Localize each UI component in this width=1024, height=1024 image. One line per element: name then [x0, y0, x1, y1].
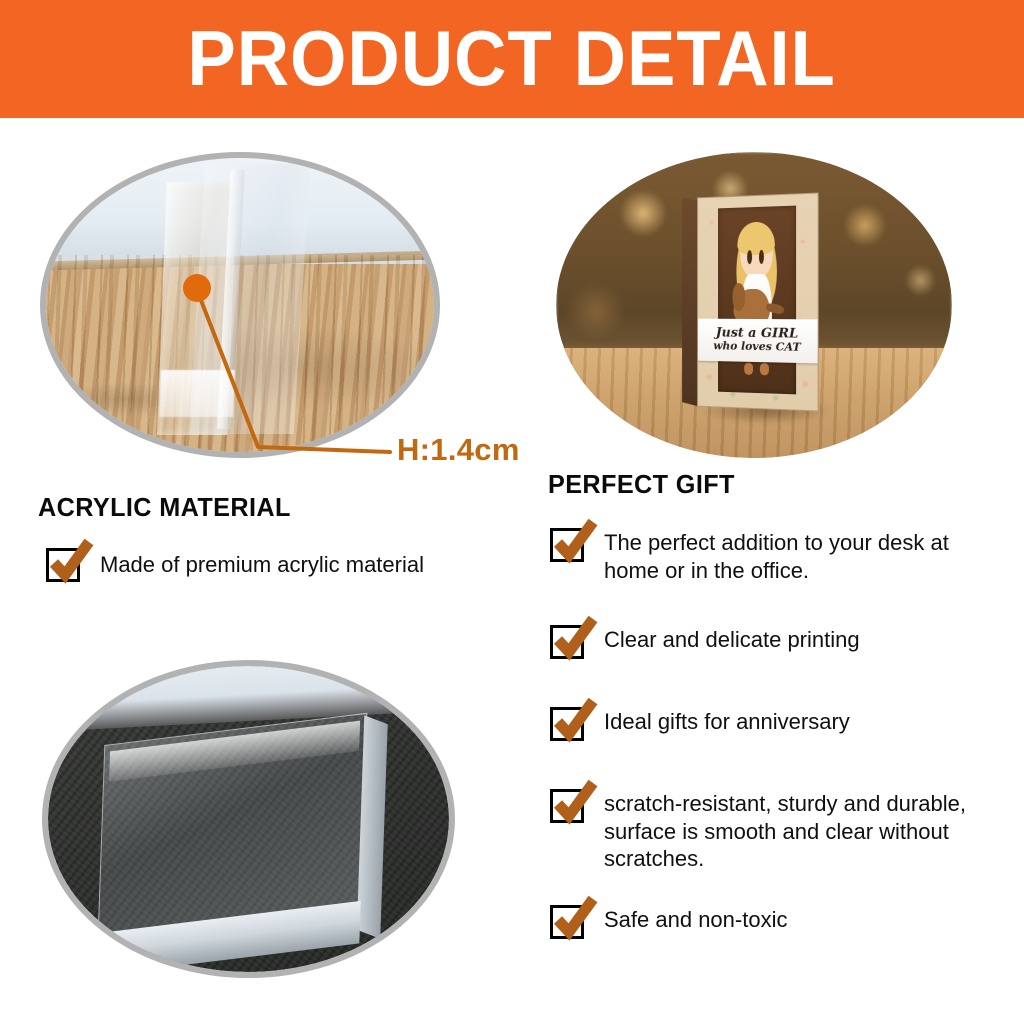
figurine-eye-left [747, 249, 752, 264]
checkbox-checked [550, 905, 584, 939]
acrylic-block-top-face [98, 713, 367, 937]
acrylic-slab-highlight [160, 370, 235, 417]
page-title: PRODUCT DETAIL [188, 19, 836, 97]
wood-table-scene [46, 158, 434, 452]
figurine-cat-head [732, 283, 745, 311]
check-icon [551, 895, 599, 943]
slate-background [48, 666, 449, 972]
dimension-label: H:1.4cm [397, 432, 520, 468]
section-heading-perfect-gift: PERFECT GIFT [548, 469, 735, 500]
header-banner: PRODUCT DETAIL [0, 0, 1024, 118]
figurine-hair-top [737, 221, 775, 256]
feature-text: scratch-resistant, sturdy and durable, s… [604, 790, 996, 873]
feature-item-gift-3: scratch-resistant, sturdy and durable, s… [550, 789, 996, 873]
acrylic-block-sheen [109, 720, 360, 781]
check-icon [551, 697, 599, 745]
checkbox-checked [550, 528, 584, 562]
acrylic-block [98, 713, 367, 937]
slate-top-strip [48, 666, 449, 733]
photo-acrylic-thickness [40, 152, 440, 458]
photo-gift-box: Just a GIRL who loves CAT [556, 152, 952, 458]
checkbox-checked [550, 625, 584, 659]
gift-box: Just a GIRL who loves CAT [697, 192, 818, 411]
feature-item-acrylic-0: Made of premium acrylic material [46, 548, 424, 582]
check-icon [551, 615, 599, 663]
check-icon [47, 538, 95, 586]
figurine-shoe-right [759, 363, 769, 374]
section-heading-acrylic-material: ACRYLIC MATERIAL [38, 492, 291, 523]
feature-text: The perfect addition to your desk at hom… [604, 529, 996, 584]
feature-text: Ideal gifts for anniversary [604, 708, 850, 736]
feature-text: Clear and delicate printing [604, 626, 860, 654]
feature-item-gift-0: The perfect addition to your desk at hom… [550, 528, 996, 584]
band-line-1: Just a GIRL [715, 326, 798, 340]
product-detail-page: PRODUCT DETAIL H:1.4cm [0, 0, 1024, 1024]
feature-text: Safe and non-toxic [604, 906, 787, 934]
checkbox-checked [550, 789, 584, 823]
check-icon [551, 779, 599, 827]
feature-item-gift-2: Ideal gifts for anniversary [550, 707, 850, 741]
photo-inner-block [48, 666, 449, 972]
photo-inner-thickness [46, 158, 434, 452]
dimension-marker-dot [183, 274, 211, 302]
gift-box-label-band: Just a GIRL who loves CAT [697, 318, 818, 363]
checkbox-checked [46, 548, 80, 582]
gift-box-window [717, 205, 796, 395]
gift-box-front-panel: Just a GIRL who loves CAT [697, 192, 818, 411]
figurine-eye-right [758, 249, 764, 264]
figurine-shoe-left [743, 363, 752, 374]
photo-acrylic-block [42, 660, 455, 978]
band-line-2: who loves CAT [713, 339, 800, 354]
feature-item-gift-4: Safe and non-toxic [550, 905, 787, 939]
feature-text: Made of premium acrylic material [100, 551, 424, 579]
feature-item-gift-1: Clear and delicate printing [550, 625, 860, 659]
checkbox-checked [550, 707, 584, 741]
photo-inner-gift: Just a GIRL who loves CAT [556, 152, 952, 458]
check-icon [551, 518, 599, 566]
